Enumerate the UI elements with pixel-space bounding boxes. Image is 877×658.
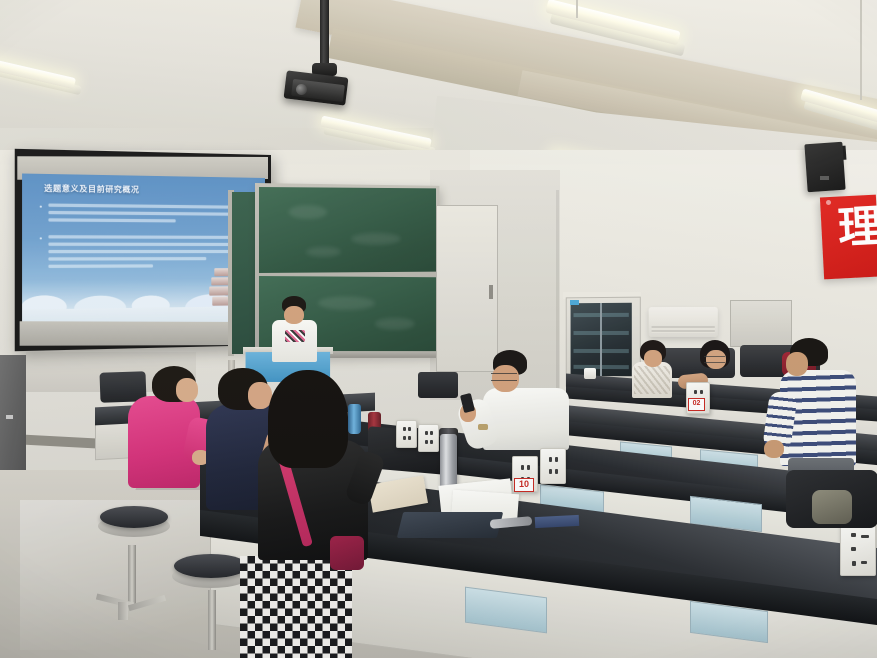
eyeglasses-icon bbox=[491, 373, 517, 381]
outlet-number-label: 10 bbox=[514, 478, 534, 492]
classroom-photo: 理 选题意义及目前研究概况 bbox=[0, 0, 877, 658]
shoulder-bag bbox=[330, 536, 364, 570]
cabinet-label bbox=[570, 300, 579, 305]
hair bbox=[268, 370, 348, 468]
chalkboard-upper-panel bbox=[259, 187, 436, 273]
helmet-bag bbox=[812, 490, 852, 524]
wall-corner bbox=[556, 190, 559, 390]
light-hanging-wire bbox=[860, 0, 862, 100]
face bbox=[644, 350, 662, 367]
wall-speaker-icon bbox=[804, 142, 845, 193]
face bbox=[284, 306, 304, 324]
banner-grommet bbox=[826, 200, 831, 205]
projector-lens bbox=[296, 84, 307, 95]
door-handle[interactable] bbox=[489, 285, 493, 299]
blue-card bbox=[535, 515, 580, 528]
dark-folder bbox=[397, 512, 503, 538]
face bbox=[786, 352, 808, 376]
wall-cabinet bbox=[730, 300, 792, 347]
stool-pole bbox=[128, 545, 136, 607]
face bbox=[176, 378, 198, 402]
desk-outlet-box[interactable] bbox=[540, 448, 566, 484]
slide-title: 选题意义及目前研究概况 bbox=[44, 182, 139, 195]
steel-thermos bbox=[440, 434, 457, 490]
cabinet-divider bbox=[600, 303, 602, 376]
office-chair[interactable] bbox=[418, 372, 458, 398]
speaker-logo bbox=[820, 176, 829, 180]
seated-man-white-shirt bbox=[483, 388, 569, 450]
wall-power-outlet[interactable] bbox=[840, 522, 876, 576]
outlet-number-label: 02 bbox=[688, 398, 705, 411]
banner-text: 理 bbox=[837, 205, 877, 251]
blouse-pattern bbox=[634, 366, 670, 394]
air-conditioner-vent bbox=[652, 326, 715, 333]
light-hanging-wire bbox=[576, 0, 578, 18]
wristwatch bbox=[478, 424, 488, 430]
metal-stool[interactable] bbox=[174, 554, 248, 578]
metal-stool[interactable] bbox=[100, 506, 168, 528]
water-bottle bbox=[348, 404, 361, 434]
stool-pole bbox=[208, 590, 216, 650]
stool-leg bbox=[118, 602, 128, 620]
white-mug bbox=[584, 368, 596, 379]
checkered-skirt bbox=[240, 556, 352, 658]
desk-outlet-box[interactable] bbox=[418, 424, 439, 452]
hand bbox=[764, 440, 784, 458]
projector-mount-pole bbox=[320, 0, 329, 70]
desk-outlet-box[interactable] bbox=[396, 420, 417, 448]
tshirt-graphic bbox=[285, 330, 305, 342]
door-handle[interactable] bbox=[6, 415, 13, 419]
eyeglasses-icon bbox=[704, 356, 725, 363]
